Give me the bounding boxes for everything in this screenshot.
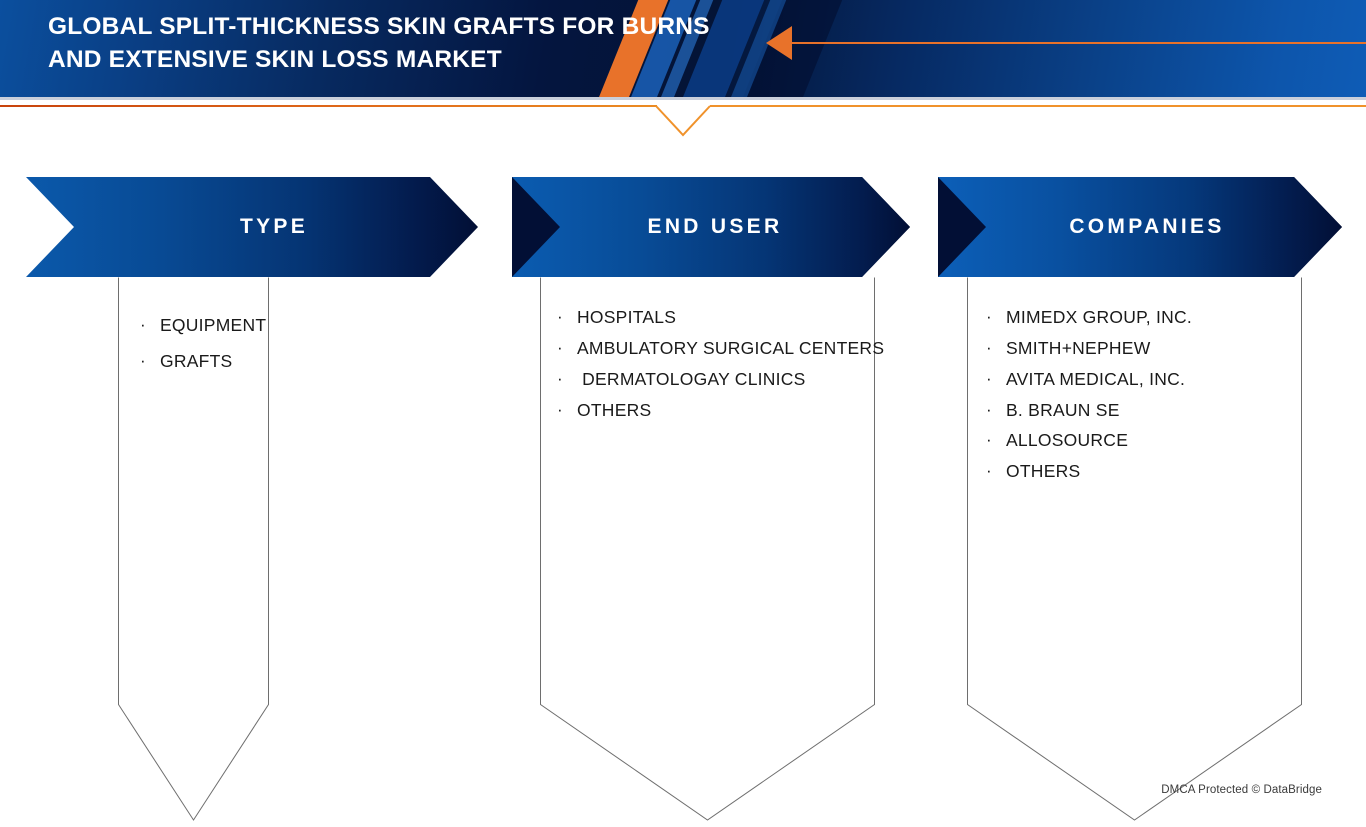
bullet-icon: · bbox=[986, 305, 1006, 329]
orange-divider-rule bbox=[0, 100, 1366, 136]
header-banner: GLOBAL SPLIT-THICKNESS SKIN GRAFTS FOR B… bbox=[0, 0, 1366, 97]
pennant-companies: · MIMEDX GROUP, INC. · SMITH+NEPHEW · AV… bbox=[938, 277, 1342, 827]
list-item: · AMBULATORY SURGICAL CENTERS bbox=[557, 336, 910, 361]
bullet-icon: · bbox=[557, 305, 577, 329]
list-item: · OTHERS bbox=[557, 398, 910, 423]
bullet-icon: · bbox=[140, 313, 160, 337]
bullet-icon: · bbox=[557, 398, 577, 422]
list-item-label: DERMATOLOGAY CLINICS bbox=[577, 367, 910, 392]
list-item-label: GRAFTS bbox=[160, 349, 478, 374]
list-item-label: AMBULATORY SURGICAL CENTERS bbox=[577, 336, 910, 361]
list-item-label: AVITA MEDICAL, INC. bbox=[1006, 367, 1342, 392]
bullet-icon: · bbox=[986, 428, 1006, 452]
list-item: · HOSPITALS bbox=[557, 305, 910, 330]
list-item: · MIMEDX GROUP, INC. bbox=[986, 305, 1342, 330]
banner-end-user[interactable]: END USER bbox=[512, 177, 910, 277]
list-item: · OTHERS bbox=[986, 459, 1342, 484]
item-list-end-user: · HOSPITALS · AMBULATORY SURGICAL CENTER… bbox=[512, 277, 910, 428]
copyright-notice: DMCA Protected © DataBridge bbox=[1161, 784, 1322, 796]
list-item-label: MIMEDX GROUP, INC. bbox=[1006, 305, 1342, 330]
list-item: · DERMATOLOGAY CLINICS bbox=[557, 367, 910, 392]
category-group-type: TYPE · EQUIPMENT · GRAFTS bbox=[26, 177, 478, 827]
list-item-label: HOSPITALS bbox=[577, 305, 910, 330]
list-item: · SMITH+NEPHEW bbox=[986, 336, 1342, 361]
category-group-companies: COMPANIES · MIMEDX GROUP, INC. · SMITH+N… bbox=[938, 177, 1342, 827]
bullet-icon: · bbox=[986, 367, 1006, 391]
bullet-icon: · bbox=[986, 398, 1006, 422]
list-item: · B. BRAUN SE bbox=[986, 398, 1342, 423]
list-item-label: SMITH+NEPHEW bbox=[1006, 336, 1342, 361]
banner-type[interactable]: TYPE bbox=[26, 177, 478, 277]
list-item-label: OTHERS bbox=[1006, 459, 1342, 484]
left-arrow-icon bbox=[766, 26, 792, 60]
list-item-label: B. BRAUN SE bbox=[1006, 398, 1342, 423]
list-item-label: ALLOSOURCE bbox=[1006, 428, 1342, 453]
bullet-icon: · bbox=[140, 349, 160, 373]
list-item: · ALLOSOURCE bbox=[986, 428, 1342, 453]
page-title: GLOBAL SPLIT-THICKNESS SKIN GRAFTS FOR B… bbox=[48, 10, 768, 77]
item-list-type: · EQUIPMENT · GRAFTS bbox=[26, 277, 478, 385]
bullet-icon: · bbox=[557, 336, 577, 360]
list-item-label: EQUIPMENT bbox=[160, 313, 478, 338]
bullet-icon: · bbox=[986, 459, 1006, 483]
bullet-icon: · bbox=[557, 367, 577, 391]
list-item: · EQUIPMENT bbox=[140, 313, 478, 338]
list-item: · AVITA MEDICAL, INC. bbox=[986, 367, 1342, 392]
arrow-tail-line bbox=[790, 42, 1366, 44]
list-item: · GRAFTS bbox=[140, 349, 478, 374]
pennant-type: · EQUIPMENT · GRAFTS bbox=[26, 277, 478, 827]
orange-rule-left-segment bbox=[0, 105, 657, 107]
pennant-end-user: · HOSPITALS · AMBULATORY SURGICAL CENTER… bbox=[512, 277, 910, 827]
banner-companies[interactable]: COMPANIES bbox=[938, 177, 1342, 277]
list-item-label: OTHERS bbox=[577, 398, 910, 423]
item-list-companies: · MIMEDX GROUP, INC. · SMITH+NEPHEW · AV… bbox=[938, 277, 1342, 490]
category-group-end-user: END USER · HOSPITALS · AMBULATORY SURGIC… bbox=[512, 177, 910, 827]
v-notch-icon bbox=[650, 104, 740, 138]
orange-rule-right-segment bbox=[710, 105, 1366, 107]
bullet-icon: · bbox=[986, 336, 1006, 360]
